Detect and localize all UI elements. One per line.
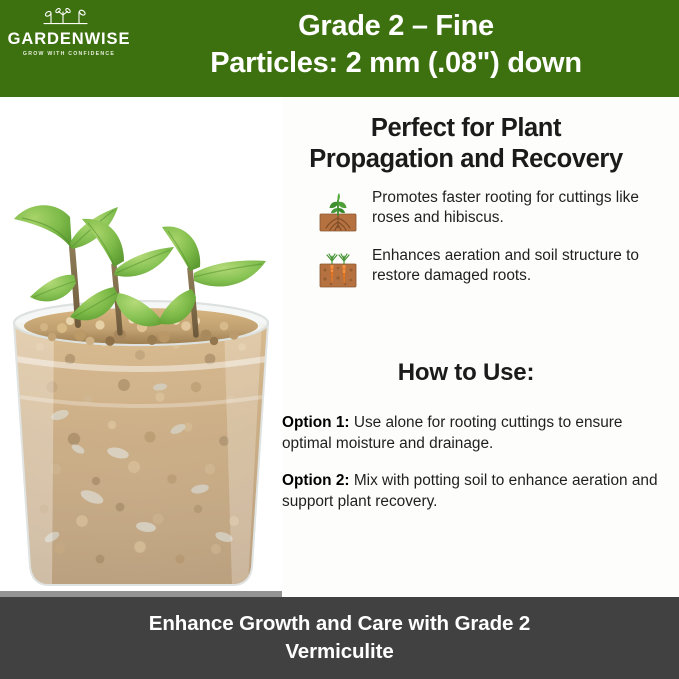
sprouts-logo-icon: [41, 6, 97, 30]
page-title-line-1: Perfect for Plant: [371, 114, 561, 142]
header-title-line-2: Particles: 2 mm (.08") down: [120, 45, 672, 82]
seedling-with-roots-icon: [316, 190, 360, 234]
page-title: Perfect for Plant Propagation and Recove…: [268, 113, 664, 175]
footer-banner: Enhance Growth and Care with Grade 2 Ver…: [0, 597, 679, 679]
infographic-page: GARDENWISE GROW WITH CONFIDENCE Grade 2 …: [0, 0, 679, 679]
header-title: Grade 2 – Fine Particles: 2 mm (.08") do…: [120, 8, 672, 82]
list-item-text: Enhances aeration and soil structure to …: [372, 246, 668, 287]
header-banner: GARDENWISE GROW WITH CONFIDENCE Grade 2 …: [0, 0, 679, 97]
seedlings-in-vermiculite-cup-photo: [0, 97, 282, 597]
benefits-list: Promotes faster rooting for cuttings lik…: [316, 188, 676, 304]
how-to-use-heading: How to Use:: [268, 359, 664, 387]
usage-option-label: Option 2:: [282, 472, 350, 489]
footer-text: Enhance Growth and Care with Grade 2 Ver…: [105, 610, 575, 665]
page-title-line-2: Propagation and Recovery: [309, 145, 622, 173]
brand-name: GARDENWISE: [8, 31, 131, 48]
content-column: Perfect for Plant Propagation and Recove…: [282, 97, 679, 597]
brand-tagline: GROW WITH CONFIDENCE: [23, 51, 115, 57]
list-item-text: Promotes faster rooting for cuttings lik…: [372, 188, 668, 229]
usage-option-label: Option 1:: [282, 414, 350, 431]
carrots-in-soil-icon: [316, 248, 360, 292]
list-item: Promotes faster rooting for cuttings lik…: [316, 188, 676, 234]
header-title-line-1: Grade 2 – Fine: [298, 10, 494, 42]
list-item: Enhances aeration and soil structure to …: [316, 246, 676, 292]
usage-options: Option 1: Use alone for rooting cuttings…: [282, 413, 672, 530]
usage-option: Option 1: Use alone for rooting cuttings…: [282, 413, 672, 454]
usage-option: Option 2: Mix with potting soil to enhan…: [282, 471, 672, 512]
brand-logo: GARDENWISE GROW WITH CONFIDENCE: [8, 6, 130, 57]
